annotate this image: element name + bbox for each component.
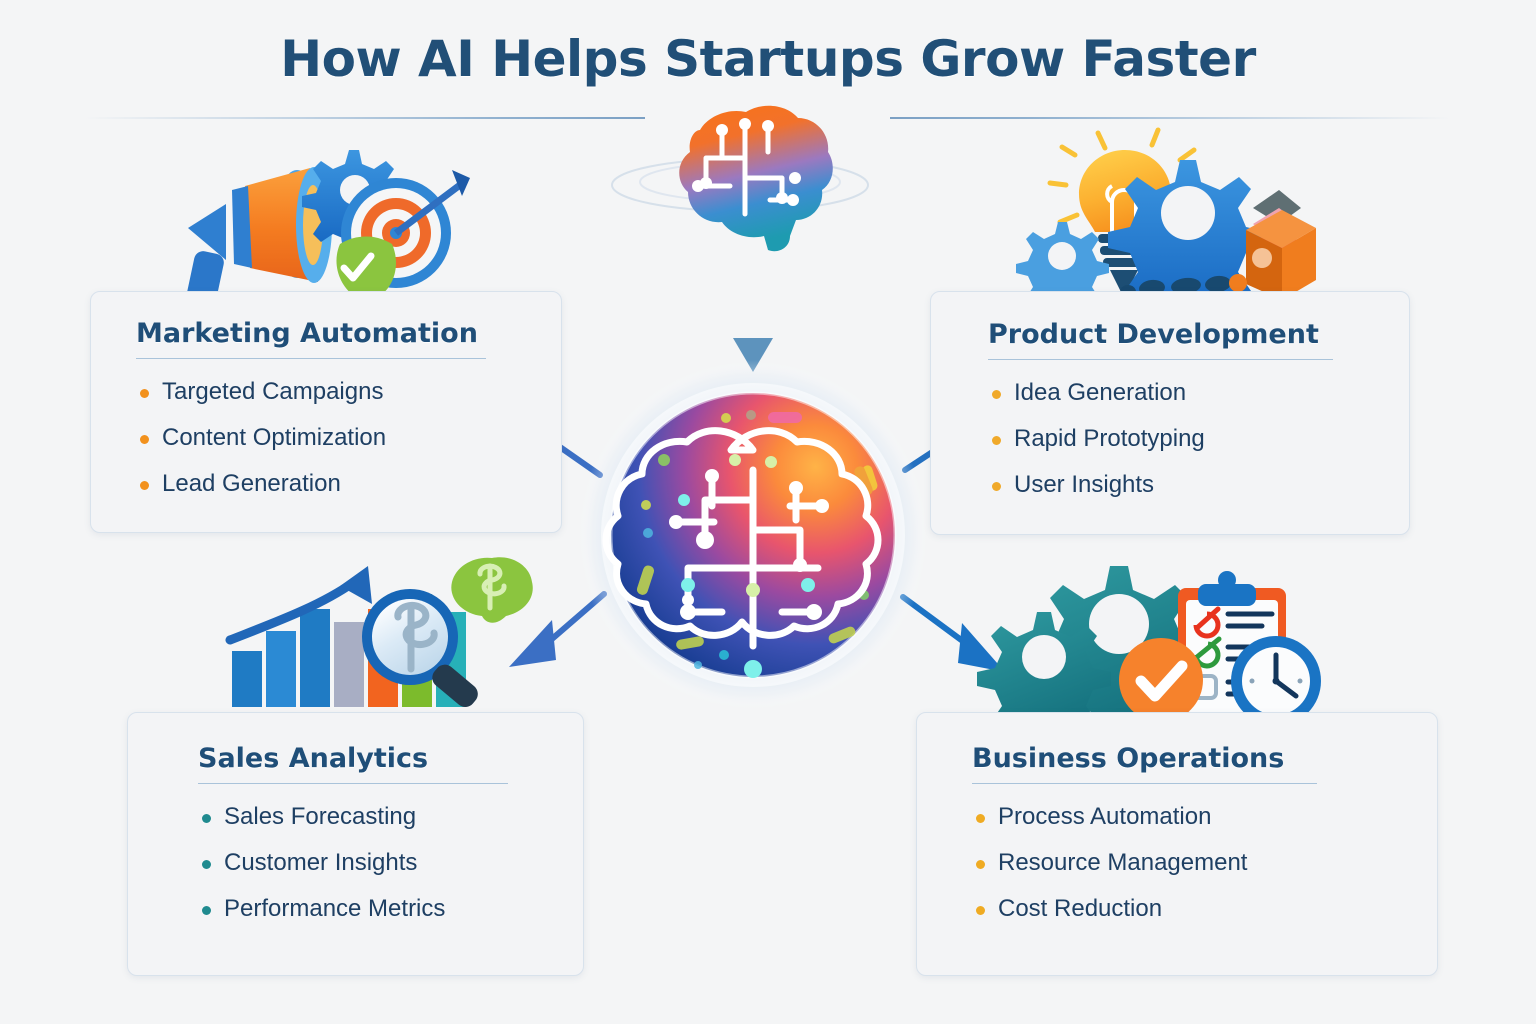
list-item[interactable]: Cost Reduction <box>972 897 1437 921</box>
header-divider-left <box>85 117 645 119</box>
list-item-label: Process Automation <box>998 803 1211 830</box>
list-item-label: Resource Management <box>998 849 1247 876</box>
bullet-dot <box>992 390 1001 399</box>
list-item-label: Idea Generation <box>1014 379 1186 406</box>
arrow-hub-to-business <box>903 597 1005 672</box>
list-item-label: Rapid Prototyping <box>1014 425 1205 452</box>
lightbulb-icon <box>1050 130 1194 290</box>
dollar-bubble-icon <box>451 557 532 623</box>
list-item[interactable]: Idea Generation <box>988 381 1409 405</box>
bullet-dot <box>202 860 211 869</box>
card-item-list: Idea Generation Rapid Prototyping User I… <box>988 381 1409 497</box>
bullet-dot <box>202 906 211 915</box>
arrow-hub-to-sales <box>509 594 604 667</box>
bullet-dot <box>976 906 985 915</box>
list-item[interactable]: Process Automation <box>972 805 1437 829</box>
card-divider <box>972 783 1317 784</box>
card-item-list: Sales Forecasting Customer Insights Perf… <box>198 805 583 921</box>
list-item[interactable]: Lead Generation <box>136 472 561 496</box>
card-product-development[interactable]: Product Development Idea Generation Rapi… <box>930 291 1410 535</box>
card-item-list: Process Automation Resource Management C… <box>972 805 1437 921</box>
check-circle-icon <box>1119 638 1203 722</box>
clipboard-checklist-icon <box>1178 571 1286 720</box>
list-item[interactable]: Rapid Prototyping <box>988 427 1409 451</box>
ai-brain-sphere <box>578 360 928 710</box>
list-item[interactable]: Targeted Campaigns <box>136 380 561 404</box>
card-title: Business Operations <box>972 743 1437 774</box>
bullet-dot <box>140 435 149 444</box>
card-title: Product Development <box>988 319 1409 350</box>
list-item-label: Performance Metrics <box>224 895 445 922</box>
card-marketing-automation[interactable]: Marketing Automation Targeted Campaigns … <box>90 291 562 533</box>
bullet-dot <box>140 481 149 490</box>
page-title: How AI Helps Startups Grow Faster <box>0 30 1536 88</box>
bullet-dot <box>140 389 149 398</box>
card-divider <box>198 783 508 784</box>
list-item-label: Cost Reduction <box>998 895 1162 922</box>
card-divider <box>988 359 1333 360</box>
bullet-dot <box>992 482 1001 491</box>
infographic-canvas: How AI Helps Startups Grow Faster <box>0 0 1536 1024</box>
card-title: Sales Analytics <box>198 743 583 774</box>
list-item[interactable]: Content Optimization <box>136 426 561 450</box>
bar-chart-icon <box>232 594 466 707</box>
list-item-label: Sales Forecasting <box>224 803 416 830</box>
ai-brain-circuit-icon <box>612 106 868 251</box>
list-item-label: Content Optimization <box>162 424 386 451</box>
list-item[interactable]: Customer Insights <box>198 851 583 875</box>
card-business-operations[interactable]: Business Operations Process Automation R… <box>916 712 1438 976</box>
list-item-label: Customer Insights <box>224 849 417 876</box>
card-item-list: Targeted Campaigns Content Optimization … <box>136 380 561 496</box>
list-item-label: Lead Generation <box>162 470 341 497</box>
list-item[interactable]: Sales Forecasting <box>198 805 583 829</box>
list-item[interactable]: User Insights <box>988 473 1409 497</box>
magnifier-dollar-icon <box>362 589 482 711</box>
bullet-dot <box>976 860 985 869</box>
bullet-dot <box>202 814 211 823</box>
bullet-dot <box>992 436 1001 445</box>
card-divider <box>136 358 486 359</box>
arrow-brain-to-hub <box>733 255 773 372</box>
header-divider-right <box>890 117 1450 119</box>
card-title: Marketing Automation <box>136 318 561 349</box>
megaphone-icon <box>185 167 332 311</box>
list-item[interactable]: Resource Management <box>972 851 1437 875</box>
bullet-dot <box>976 814 985 823</box>
list-item-label: Targeted Campaigns <box>162 378 383 405</box>
list-item-label: User Insights <box>1014 471 1154 498</box>
gear-icon <box>302 150 405 253</box>
card-sales-analytics[interactable]: Sales Analytics Sales Forecasting Custom… <box>127 712 584 976</box>
growth-arrow-icon <box>230 566 372 640</box>
target-icon <box>341 170 470 288</box>
pencil-box-icon <box>1120 190 1316 300</box>
list-item[interactable]: Performance Metrics <box>198 897 583 921</box>
